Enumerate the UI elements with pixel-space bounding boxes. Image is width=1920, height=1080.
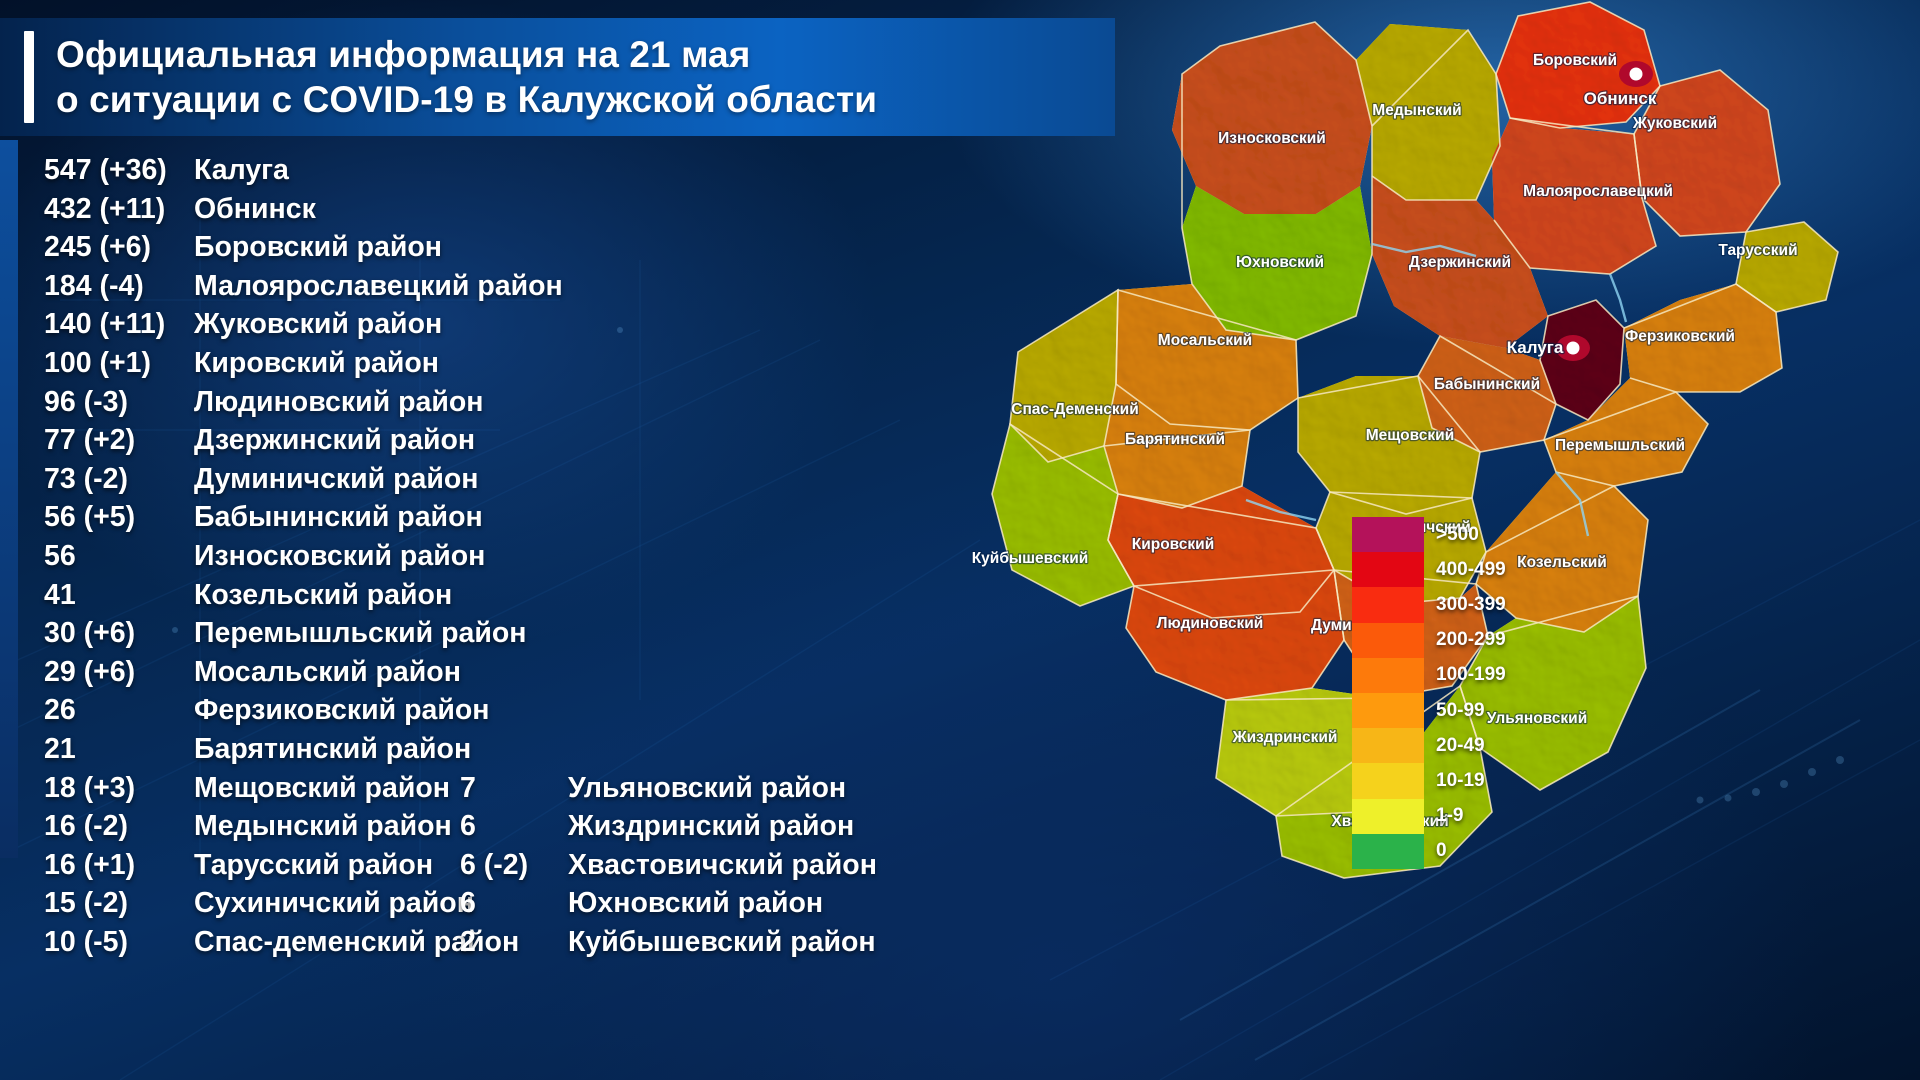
legend-swatch (1352, 658, 1424, 693)
stat-count: 18 (+3) (44, 772, 194, 805)
legend-label: 50-99 (1436, 693, 1546, 728)
stat-count: 29 (+6) (44, 656, 194, 689)
district-label: Жуковский (1632, 115, 1717, 132)
stat-district-name: Хвастовичский район (568, 849, 877, 882)
district-shape-iznoskovsky (1172, 22, 1372, 214)
district-label: Жиздринский (1232, 729, 1338, 746)
stat-row: 30 (+6)Перемышльский район (44, 617, 994, 656)
page-title: Официальная информация на 21 мая о ситуа… (56, 32, 877, 122)
district-label: Юхновский (1236, 254, 1324, 271)
stat-district-name: Кировский район (194, 347, 439, 380)
stat-district-name: Людиновский район (194, 386, 483, 419)
legend-color-scale (1352, 517, 1424, 869)
legend-swatch (1352, 623, 1424, 658)
stat-row: 432 (+11)Обнинск (44, 193, 994, 232)
stat-count: 56 (+5) (44, 501, 194, 534)
stat-district-name: Перемышльский район (194, 617, 527, 650)
stat-count: 6 (460, 887, 568, 920)
legend-swatch (1352, 799, 1424, 834)
district-label: Людиновский (1157, 615, 1264, 632)
stat-district-name: Мосальский район (194, 656, 461, 689)
stat-row: 26Ферзиковский район (44, 694, 994, 733)
legend-label: 100-199 (1436, 658, 1546, 693)
city-marker-dot (1630, 68, 1643, 81)
legend-label: >500 (1436, 517, 1546, 552)
stat-district-name: Ульяновский район (568, 772, 846, 805)
stat-row: 41Козельский район (44, 579, 994, 618)
legend-swatch (1352, 517, 1424, 552)
stat-district-name: Калуга (194, 154, 289, 187)
stat-count: 547 (+36) (44, 154, 194, 187)
statistics-panel: 547 (+36)Калуга432 (+11)Обнинск245 (+6)Б… (0, 140, 1000, 880)
stat-row: 6Жиздринский район (460, 810, 854, 843)
stat-count: 432 (+11) (44, 193, 194, 226)
district-label: Мосальский (1158, 332, 1252, 349)
stat-district-name: Дзержинский район (194, 424, 475, 457)
legend-swatch (1352, 552, 1424, 587)
stat-row: 29 (+6)Мосальский район (44, 656, 994, 695)
stat-count: 16 (+1) (44, 849, 194, 882)
legend-swatch (1352, 693, 1424, 728)
district-shape-spas-demensky (1010, 290, 1118, 462)
legend-label: 400-499 (1436, 552, 1546, 587)
stat-row: 96 (-3)Людиновский район (44, 386, 994, 425)
stat-count: 6 (-2) (460, 849, 568, 882)
stat-count: 16 (-2) (44, 810, 194, 843)
stat-district-name: Думиничский район (194, 463, 479, 496)
stat-district-name: Козельский район (194, 579, 452, 612)
legend-swatch (1352, 587, 1424, 622)
headline-accent-bar (24, 31, 34, 123)
legend-labels: >500400-499300-399200-299100-19950-9920-… (1436, 517, 1546, 869)
stat-row: 73 (-2)Думиничский район (44, 463, 994, 502)
district-label: Износковский (1218, 130, 1326, 147)
stat-count: 21 (44, 733, 194, 766)
stat-row: 547 (+36)Калуга (44, 154, 994, 193)
district-label: Мещовский (1366, 427, 1454, 444)
stat-count: 30 (+6) (44, 617, 194, 650)
district-label: Боровский (1533, 52, 1617, 69)
stat-row: 140 (+11)Жуковский район (44, 308, 994, 347)
city-label: Обнинск (1584, 89, 1657, 108)
stat-row: 21Барятинский район (44, 733, 994, 772)
stat-district-name: Медынский район (194, 810, 452, 843)
statistics-accent-bar (0, 140, 18, 858)
stat-district-name: Жиздринский район (568, 810, 854, 843)
stat-district-name: Ферзиковский район (194, 694, 489, 727)
stat-count: 96 (-3) (44, 386, 194, 419)
stat-count: 56 (44, 540, 194, 573)
stat-count: 77 (+2) (44, 424, 194, 457)
legend-swatch (1352, 728, 1424, 763)
stat-district-name: Куйбышевский район (568, 926, 876, 959)
stat-count: 140 (+11) (44, 308, 194, 341)
district-label: Тарусский (1718, 242, 1797, 259)
district-label: Ферзиковский (1625, 328, 1735, 345)
district-label: Спас-Деменский (1011, 401, 1139, 418)
stat-count: 2 (460, 926, 568, 959)
legend-label: 200-299 (1436, 623, 1546, 658)
city-marker-dot (1567, 342, 1580, 355)
legend-swatch (1352, 834, 1424, 869)
legend-label: 300-399 (1436, 587, 1546, 622)
stat-district-name: Обнинск (194, 193, 316, 226)
stat-row: 56 (+5)Бабынинский район (44, 501, 994, 540)
infographic-root: Официальная информация на 21 мая о ситуа… (0, 0, 1920, 1080)
stat-count: 15 (-2) (44, 887, 194, 920)
stat-district-name: Износковский район (194, 540, 485, 573)
legend-label: 20-49 (1436, 728, 1546, 763)
headline-line-1: Официальная информация на 21 мая (56, 32, 877, 77)
stat-count: 245 (+6) (44, 231, 194, 264)
stat-district-name: Сухиничский район (194, 887, 474, 920)
legend-label: 10-19 (1436, 763, 1546, 798)
legend-label: 0 (1436, 834, 1546, 869)
stat-row: 100 (+1)Кировский район (44, 347, 994, 386)
stat-row: 77 (+2)Дзержинский район (44, 424, 994, 463)
stat-district-name: Мещовский район (194, 772, 450, 805)
legend-label: 1-9 (1436, 799, 1546, 834)
stat-count: 100 (+1) (44, 347, 194, 380)
headline-line-2: о ситуации с COVID-19 в Калужской област… (56, 77, 877, 122)
district-label: Малоярославецкий (1523, 183, 1673, 200)
district-label: Бабынинский (1434, 376, 1540, 393)
stat-district-name: Тарусский район (194, 849, 433, 882)
district-label: Медынский (1372, 102, 1461, 119)
district-label: Дзержинский (1409, 254, 1511, 271)
stat-count: 7 (460, 772, 568, 805)
stat-district-name: Боровский район (194, 231, 442, 264)
stat-district-name: Юхновский район (568, 887, 823, 920)
legend-swatch (1352, 763, 1424, 798)
stat-count: 73 (-2) (44, 463, 194, 496)
stat-count: 26 (44, 694, 194, 727)
stat-district-name: Барятинский район (194, 733, 471, 766)
legend: >500400-499300-399200-299100-19950-9920-… (1352, 517, 1542, 869)
stat-count: 41 (44, 579, 194, 612)
stat-count: 10 (-5) (44, 926, 194, 959)
stat-row: 245 (+6)Боровский район (44, 231, 994, 270)
stat-row: 7Ульяновский район (460, 772, 846, 805)
stat-row: 184 (-4)Малоярославецкий район (44, 270, 994, 309)
stat-row: 2Куйбышевский район (460, 926, 876, 959)
stat-count: 184 (-4) (44, 270, 194, 303)
stat-count: 6 (460, 810, 568, 843)
district-label: Перемышльский (1555, 437, 1685, 454)
city-label: Калуга (1507, 338, 1564, 357)
district-label: Барятинский (1125, 431, 1225, 448)
stat-row: 6Юхновский район (460, 887, 823, 920)
stat-district-name: Малоярославецкий район (194, 270, 563, 303)
stat-row: 56Износковский район (44, 540, 994, 579)
district-label: Куйбышевский (972, 550, 1089, 567)
stat-district-name: Бабынинский район (194, 501, 483, 534)
stat-district-name: Жуковский район (194, 308, 442, 341)
district-label: Кировский (1132, 536, 1215, 553)
stat-row: 6 (-2)Хвастовичский район (460, 849, 877, 882)
